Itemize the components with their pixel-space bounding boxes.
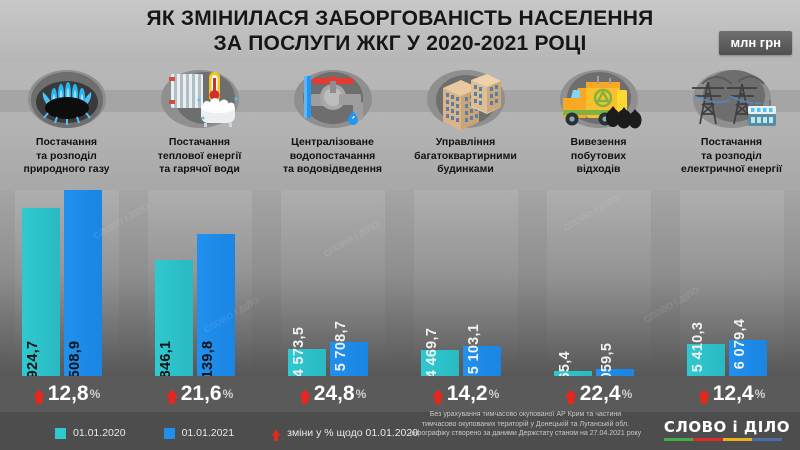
category-label-2-line1: Постачання <box>133 136 266 150</box>
category-label-4-line1: Управління <box>399 136 532 150</box>
category-label-6-line3: електричної енергії <box>665 163 798 177</box>
category-label-5-line1: Вивезення <box>532 136 665 150</box>
percent-sign-4: % <box>489 387 500 401</box>
bar-2020-3[interactable]: 4 573,5 <box>288 349 326 376</box>
bar-2021-5[interactable]: 1 059,5 <box>596 369 634 376</box>
category-label-4: Управління багатоквартирними будинками <box>399 136 532 177</box>
brand-logo-text: СЛОВО і ДІЛО <box>664 418 790 436</box>
category-label-1-line2: та розподіл <box>0 150 133 164</box>
bar-group-5: 865,4 1 059,5 <box>532 190 665 376</box>
percent-value-5: 22,4 <box>580 382 621 406</box>
category-label-1-line3: природного газу <box>0 163 133 177</box>
bar-group-3: 4 573,5 5 708,7 <box>266 190 399 376</box>
logo-bar-green <box>664 438 694 441</box>
category-label-5-line2: побутових <box>532 150 665 164</box>
apartment-building-icon <box>399 62 532 134</box>
bar-value-2021-4: 5 103,1 <box>466 324 482 374</box>
category-label-6-line1: Постачання <box>665 136 798 150</box>
bar-2020-6[interactable]: 5 410,3 <box>687 344 725 376</box>
category-label-1: Постачання та розподіл природного газу <box>0 136 133 177</box>
bar-2021-1[interactable]: 31 508,9 <box>64 190 102 376</box>
bar-2020-4[interactable]: 4 469,7 <box>421 350 459 376</box>
bar-2020-2[interactable]: 19 846,1 <box>155 260 193 376</box>
category-label-3-line1: Централізоване <box>266 136 399 150</box>
bar-group-1: 27 924,7 31 508,9 <box>0 190 133 376</box>
bar-2020-1[interactable]: 27 924,7 <box>22 208 60 376</box>
water-valve-icon <box>266 62 399 134</box>
legend-item-2021: 01.01.2021 <box>164 427 235 439</box>
arrow-up-icon <box>33 389 45 398</box>
brand-logo-color-bar <box>664 438 782 441</box>
legend-label-change: зміни у % щодо 01.01.2020 <box>287 427 418 439</box>
percent-value-2: 21,6 <box>181 382 222 406</box>
logo-bar-red <box>693 438 723 441</box>
category-label-1-line1: Постачання <box>0 136 133 150</box>
percent-change-5: 22,4 % <box>532 379 665 409</box>
arrow-up-icon <box>565 389 577 398</box>
page-title: ЯК ЗМІНИЛАСЯ ЗАБОРГОВАНІСТЬ НАСЕЛЕННЯ ЗА… <box>0 6 800 56</box>
percent-sign-3: % <box>356 387 367 401</box>
category-label-2-line2: теплової енергії <box>133 150 266 164</box>
legend-label-2020: 01.01.2020 <box>73 427 126 439</box>
logo-bar-yellow <box>723 438 753 441</box>
percent-value-4: 14,2 <box>447 382 488 406</box>
category-label-5-line3: відходів <box>532 163 665 177</box>
header-band: ЯК ЗМІНИЛАСЯ ЗАБОРГОВАНІСТЬ НАСЕЛЕННЯ ЗА… <box>0 0 800 62</box>
percent-change-3: 24,8 % <box>266 379 399 409</box>
footnote: Без урахування тимчасово окупованої АР К… <box>388 410 663 439</box>
bar-2021-3[interactable]: 5 708,7 <box>330 342 368 376</box>
percent-value-1: 12,8 <box>48 382 89 406</box>
bar-2021-4[interactable]: 5 103,1 <box>463 346 501 376</box>
bar-group-6: 5 410,3 6 079,4 <box>665 190 798 376</box>
percent-sign-5: % <box>622 387 633 401</box>
percent-value-3: 24,8 <box>314 382 355 406</box>
category-label-4-line3: будинками <box>399 163 532 177</box>
footnote-line-2: тимчасово окупованих територій у Донецьк… <box>388 420 663 430</box>
category-label-5: Вивезення побутових відходів <box>532 136 665 177</box>
radiator-bathtub-icon <box>133 62 266 134</box>
bar-value-2020-3: 4 573,5 <box>291 327 307 377</box>
legend-swatch-2021 <box>164 428 175 439</box>
garbage-truck-icon <box>532 62 665 134</box>
category-label-6: Постачання та розподіл електричної енерг… <box>665 136 798 177</box>
arrow-up-icon <box>166 389 178 398</box>
percent-change-6: 12,4 % <box>665 379 798 409</box>
bar-value-2021-6: 6 079,4 <box>732 319 748 369</box>
percent-change-1: 12,8 % <box>0 379 133 409</box>
category-label-3-line3: та водовідведення <box>266 163 399 177</box>
bar-value-2020-4: 4 469,7 <box>424 328 440 378</box>
bar-2021-2[interactable]: 24 139,8 <box>197 234 235 376</box>
bar-group-4: 4 469,7 5 103,1 <box>399 190 532 376</box>
category-label-3-line2: водопостачання <box>266 150 399 164</box>
bar-value-2021-3: 5 708,7 <box>333 321 349 371</box>
title-line-1: ЯК ЗМІНИЛАСЯ ЗАБОРГОВАНІСТЬ НАСЕЛЕННЯ <box>147 7 654 30</box>
bar-value-2020-6: 5 410,3 <box>690 322 706 372</box>
footnote-line-1: Без урахування тимчасово окупованої АР К… <box>388 410 663 420</box>
logo-bar-blue <box>752 438 782 441</box>
legend-swatch-2020 <box>55 428 66 439</box>
arrow-up-icon <box>698 389 710 398</box>
unit-badge: млн грн <box>719 31 792 55</box>
footnote-line-3: Інфографіку створено за даними Держстату… <box>388 429 663 439</box>
chart-plot-area: СЛОВО І ДІЛО СЛОВО І ДІЛО СЛОВО І ДІЛО С… <box>0 190 800 376</box>
percent-change-4: 14,2 % <box>399 379 532 409</box>
bar-2021-6[interactable]: 6 079,4 <box>729 340 767 376</box>
category-label-2: Постачання теплової енергії та гарячої в… <box>133 136 266 177</box>
arrow-up-icon <box>299 389 311 398</box>
percent-value-6: 12,4 <box>713 382 754 406</box>
arrow-up-icon <box>432 389 444 398</box>
power-lines-icon <box>665 62 798 134</box>
bar-group-2: 19 846,1 24 139,8 <box>133 190 266 376</box>
legend-label-2021: 01.01.2021 <box>182 427 235 439</box>
brand-logo[interactable]: СЛОВО і ДІЛО <box>664 418 790 441</box>
percent-sign-6: % <box>755 387 766 401</box>
category-label-3: Централізоване водопостачання та водовід… <box>266 136 399 177</box>
arrow-up-icon <box>272 429 280 436</box>
percent-sign-2: % <box>223 387 234 401</box>
category-label-2-line3: та гарячої води <box>133 163 266 177</box>
infographic-poster: ЯК ЗМІНИЛАСЯ ЗАБОРГОВАНІСТЬ НАСЕЛЕННЯ ЗА… <box>0 0 800 450</box>
percent-change-2: 21,6 % <box>133 379 266 409</box>
legend-item-2020: 01.01.2020 <box>55 427 126 439</box>
percent-sign-1: % <box>90 387 101 401</box>
title-line-2: ЗА ПОСЛУГИ ЖКГ У 2020-2021 РОЦІ <box>0 31 800 56</box>
legend-item-change: зміни у % щодо 01.01.2020 <box>272 427 418 439</box>
category-label-4-line2: багатоквартирними <box>399 150 532 164</box>
category-label-6-line2: та розподіл <box>665 150 798 164</box>
chart-legend: 01.01.2020 01.01.2021 зміни у % щодо 01.… <box>55 426 418 440</box>
gas-burner-icon <box>0 62 133 134</box>
